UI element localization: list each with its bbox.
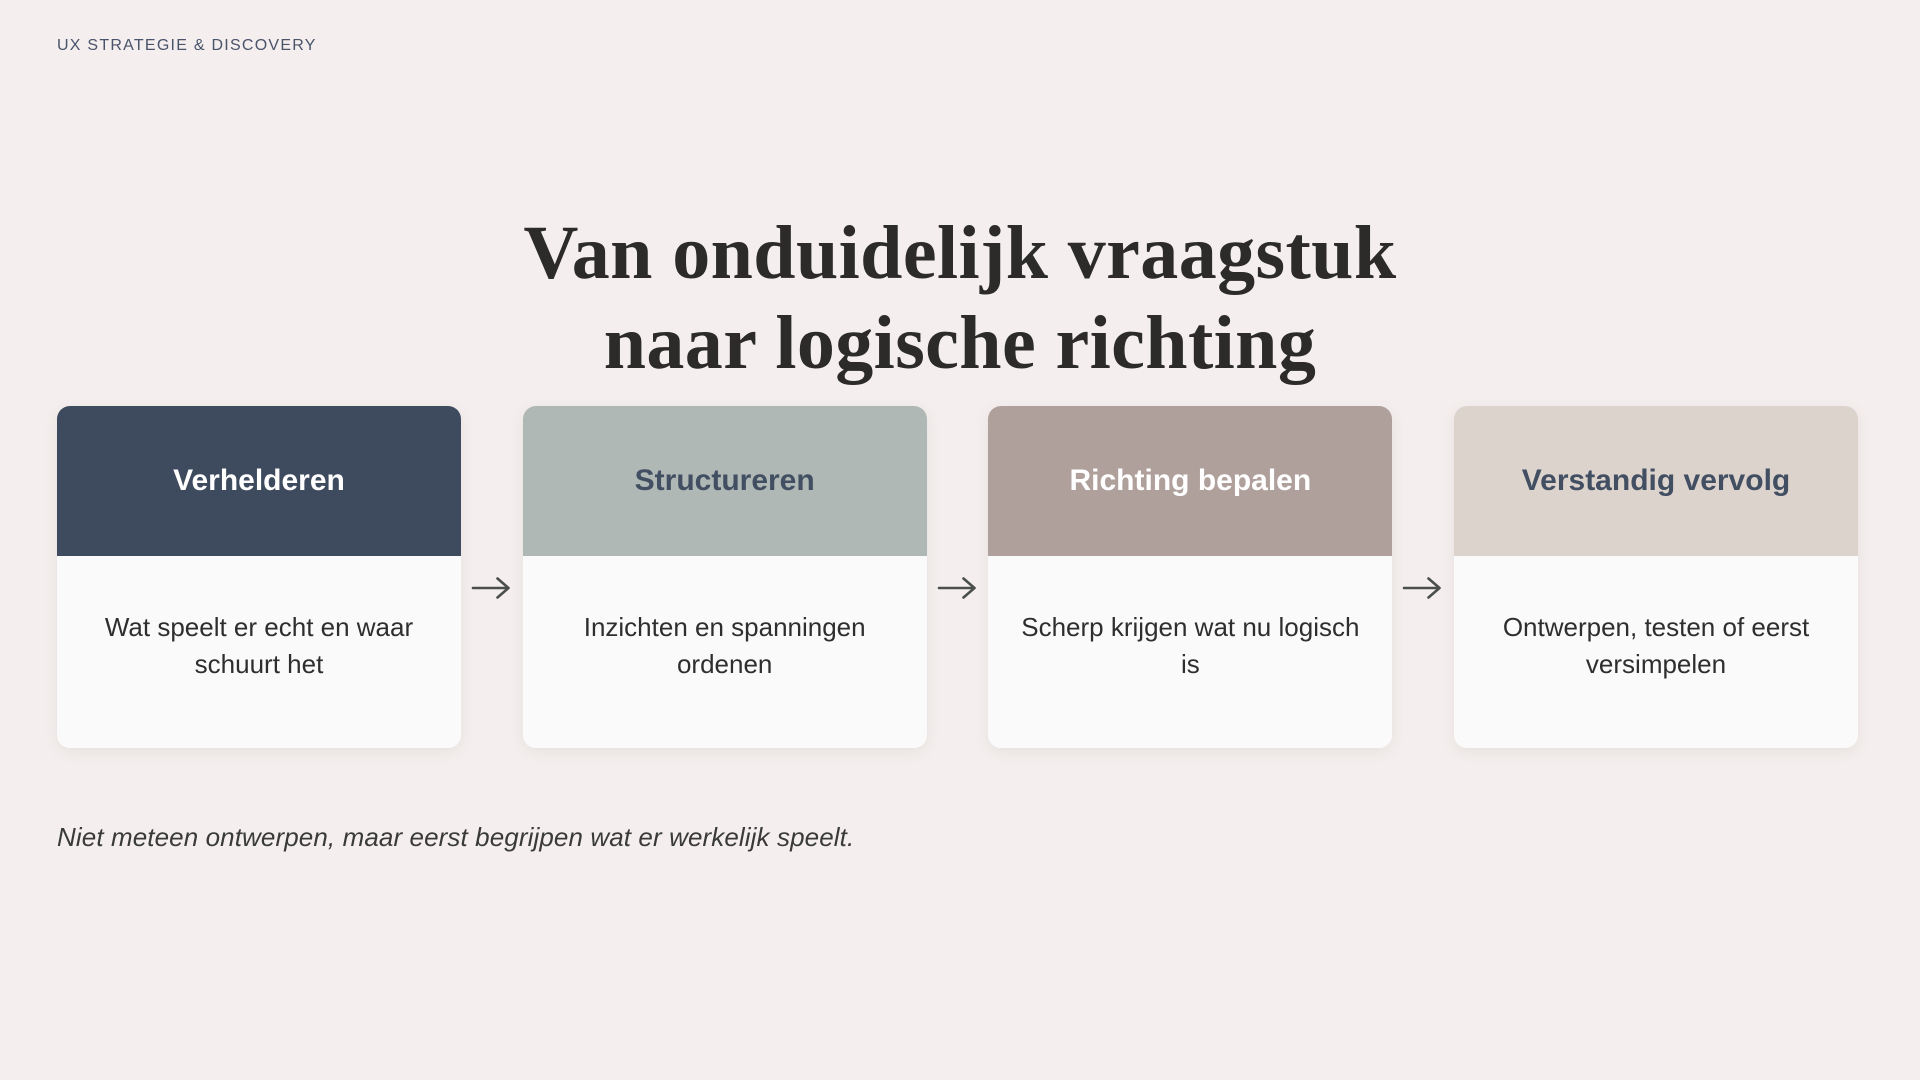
footnote-text: Niet meteen ontwerpen, maar eerst begrij… xyxy=(57,822,854,853)
flow-step-title: Structureren xyxy=(635,463,815,499)
arrow-right-icon xyxy=(470,573,514,603)
flow-step-title: Richting bepalen xyxy=(1070,463,1312,499)
arrow-right-icon xyxy=(1401,573,1445,603)
flow-step-card[interactable]: Richting bepalen Scherp krijgen wat nu l… xyxy=(988,406,1392,748)
flow-step-card[interactable]: Verstandig vervolg Ontwerpen, testen of … xyxy=(1454,406,1858,748)
flow-step-body: Wat speelt er echt en waar schuurt het xyxy=(57,556,461,748)
flow-step-title: Verhelderen xyxy=(173,463,345,499)
flow-connector xyxy=(927,406,989,748)
flow-step-description: Inzichten en spanningen ordenen xyxy=(549,609,901,683)
flow-step-body: Scherp krijgen wat nu logisch is xyxy=(988,556,1392,748)
flow-step-card[interactable]: Structureren Inzichten en spanningen ord… xyxy=(523,406,927,748)
flow-step-card[interactable]: Verhelderen Wat speelt er echt en waar s… xyxy=(57,406,461,748)
process-flow: Verhelderen Wat speelt er echt en waar s… xyxy=(57,406,1858,748)
eyebrow-label: UX STRATEGIE & DISCOVERY xyxy=(57,37,317,55)
page-title: Van onduidelijk vraagstuk naar logische … xyxy=(0,209,1920,388)
arrow-right-icon xyxy=(936,573,980,603)
flow-step-header: Richting bepalen xyxy=(988,406,1392,556)
flow-step-header: Structureren xyxy=(523,406,927,556)
page-title-line-1: Van onduidelijk vraagstuk xyxy=(0,209,1920,299)
flow-step-description: Wat speelt er echt en waar schuurt het xyxy=(83,609,435,683)
flow-connector xyxy=(461,406,523,748)
flow-step-description: Ontwerpen, testen of eerst versimpelen xyxy=(1480,609,1832,683)
slide-canvas: UX STRATEGIE & DISCOVERY Van onduidelijk… xyxy=(0,0,1920,1080)
flow-step-title: Verstandig vervolg xyxy=(1522,463,1790,499)
flow-step-body: Inzichten en spanningen ordenen xyxy=(523,556,927,748)
flow-connector xyxy=(1392,406,1454,748)
page-title-line-2: naar logische richting xyxy=(0,299,1920,389)
flow-step-header: Verhelderen xyxy=(57,406,461,556)
flow-step-header: Verstandig vervolg xyxy=(1454,406,1858,556)
flow-step-body: Ontwerpen, testen of eerst versimpelen xyxy=(1454,556,1858,748)
flow-step-description: Scherp krijgen wat nu logisch is xyxy=(1014,609,1366,683)
